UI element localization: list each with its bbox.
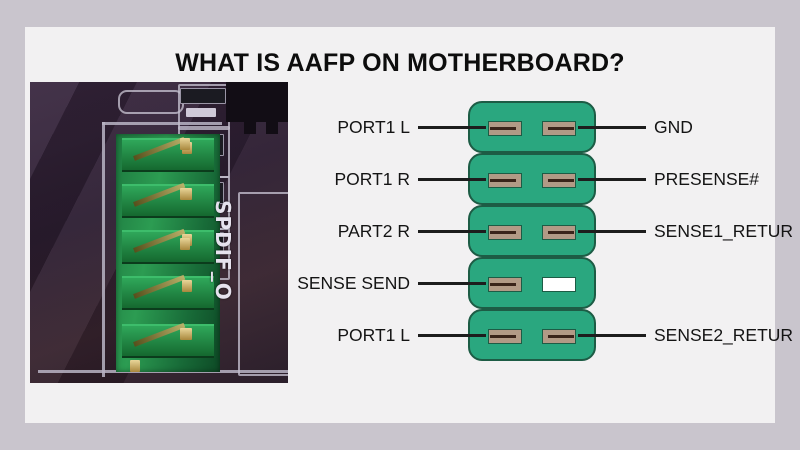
pin-label-right-3: SENSE1_RETUR <box>654 221 800 242</box>
pin-label-right-5: SENSE2_RETUR <box>654 325 800 346</box>
pin-notch <box>548 127 574 130</box>
pin-notch <box>490 283 516 286</box>
pin-right <box>542 173 576 188</box>
leader-line-right <box>578 178 646 181</box>
leader-line-left <box>418 178 486 181</box>
pin-diagram: PORT1 L GND PORT1 R PRESENSE# PART2 R SE… <box>25 27 775 423</box>
connector-segment <box>468 309 596 361</box>
pin-right <box>542 121 576 136</box>
pin-right <box>542 225 576 240</box>
leader-line-right <box>578 230 646 233</box>
leader-line-right <box>578 126 646 129</box>
pin-notch <box>490 127 516 130</box>
pin-notch <box>548 179 574 182</box>
pin-left <box>488 173 522 188</box>
pin-notch <box>490 179 516 182</box>
pin-label-left-4: SENSE SEND <box>218 273 410 294</box>
pin-notch <box>548 231 574 234</box>
screenshot-root: WHAT IS AAFP ON MOTHERBOARD? <box>0 0 800 450</box>
pin-left <box>488 277 522 292</box>
pin-label-right-2: PRESENSE# <box>654 169 800 190</box>
pin-notch <box>548 335 574 338</box>
connector-segment <box>468 101 596 153</box>
leader-line-left <box>418 282 486 285</box>
pin-left <box>488 225 522 240</box>
pin-label-right-1: GND <box>654 117 800 138</box>
leader-line-left <box>418 230 486 233</box>
connector-segment <box>468 153 596 205</box>
pin-label-left-5: PORT1 L <box>218 325 410 346</box>
connector-segment <box>468 205 596 257</box>
pin-notch <box>490 231 516 234</box>
pin-label-left-2: PORT1 R <box>218 169 410 190</box>
leader-line-right <box>578 334 646 337</box>
pin-label-left-1: PORT1 L <box>218 117 410 138</box>
pin-right <box>542 329 576 344</box>
pin-left <box>488 329 522 344</box>
leader-line-left <box>418 334 486 337</box>
pin-label-left-3: PART2 R <box>218 221 410 242</box>
pin-right-keyed <box>542 277 576 292</box>
leader-line-left <box>418 126 486 129</box>
pin-notch <box>490 335 516 338</box>
pin-left <box>488 121 522 136</box>
content-card: WHAT IS AAFP ON MOTHERBOARD? <box>25 27 775 423</box>
connector-segment <box>468 257 596 309</box>
